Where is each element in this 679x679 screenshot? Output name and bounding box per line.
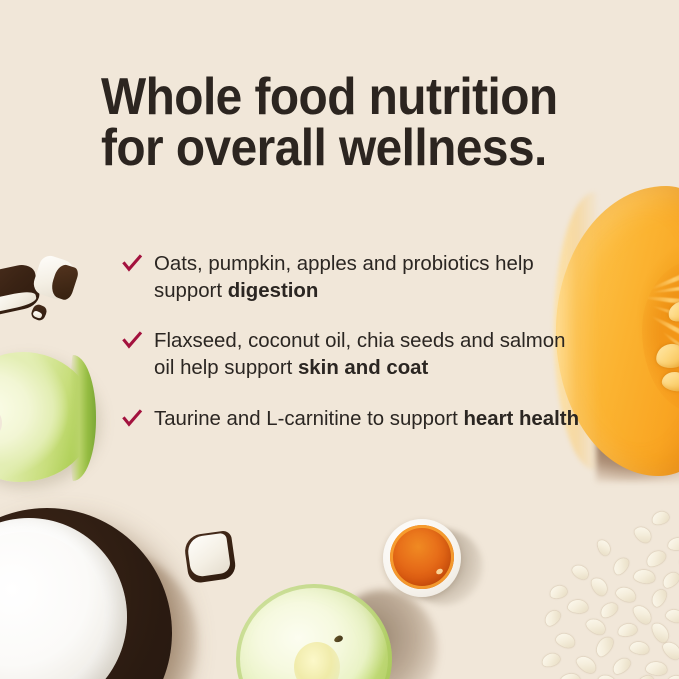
- coconut-chunk-single-icon: [183, 530, 237, 584]
- list-item-text: Taurine and L-carnitine to support heart…: [154, 406, 583, 433]
- check-icon: [121, 408, 143, 430]
- coconut-half-shadow: [18, 550, 198, 679]
- check-icon: [121, 330, 143, 352]
- oil-bowl-shadow: [405, 529, 483, 605]
- benefits-list: Oats, pumpkin, apples and probiotics hel…: [121, 251, 583, 433]
- oil-bowl-icon: [383, 519, 461, 597]
- list-item-lead: Oats, pumpkin, apples and probiotics hel…: [154, 253, 534, 302]
- list-item: Flaxseed, coconut oil, chia seeds and sa…: [121, 328, 583, 381]
- apple-half-skin-rim: [236, 584, 392, 679]
- list-item-text: Flaxseed, coconut oil, chia seeds and sa…: [154, 328, 583, 381]
- pumpkin-half-shadow: [596, 420, 679, 482]
- green-apple-half-icon: [236, 584, 392, 679]
- apple-half-shadow: [328, 590, 438, 679]
- coconut-crumb: [30, 303, 49, 322]
- check-icon: [121, 253, 143, 275]
- oil-highlight: [435, 568, 444, 576]
- list-item-emphasis: skin and coat: [298, 357, 428, 379]
- list-item-text: Oats, pumpkin, apples and probiotics hel…: [154, 251, 583, 304]
- coconut-flesh: [0, 518, 127, 679]
- oil-bowl-rim: [383, 519, 461, 597]
- green-apple-slice-icon: [0, 352, 94, 482]
- list-item-lead: Taurine and L-carnitine to support: [154, 408, 463, 430]
- coconut-shell: [0, 508, 172, 679]
- list-item-emphasis: digestion: [228, 280, 319, 302]
- coconut-half-icon: [0, 508, 172, 679]
- coconut-flesh-inner: [0, 532, 104, 679]
- coconut-chunk-a: [0, 262, 42, 318]
- oil-liquid: [390, 525, 454, 589]
- apple-seed: [333, 634, 344, 643]
- rolled-oats-icon: [542, 508, 679, 679]
- promo-graphic: Whole food nutrition for overall wellnes…: [0, 0, 679, 679]
- list-item: Oats, pumpkin, apples and probiotics hel…: [121, 251, 583, 304]
- page-title: Whole food nutrition for overall wellnes…: [101, 72, 561, 174]
- pumpkin-seed-cavity: [642, 260, 679, 412]
- coconut-chunk-b: [31, 253, 80, 303]
- apple-half-flesh: [236, 584, 392, 679]
- list-item-emphasis: heart health: [463, 408, 579, 430]
- apple-slice-notch: [0, 400, 2, 446]
- apple-core: [294, 642, 340, 679]
- apple-slice-skin: [70, 355, 96, 481]
- list-item: Taurine and L-carnitine to support heart…: [121, 406, 583, 433]
- apple-slice-flesh: [0, 352, 94, 482]
